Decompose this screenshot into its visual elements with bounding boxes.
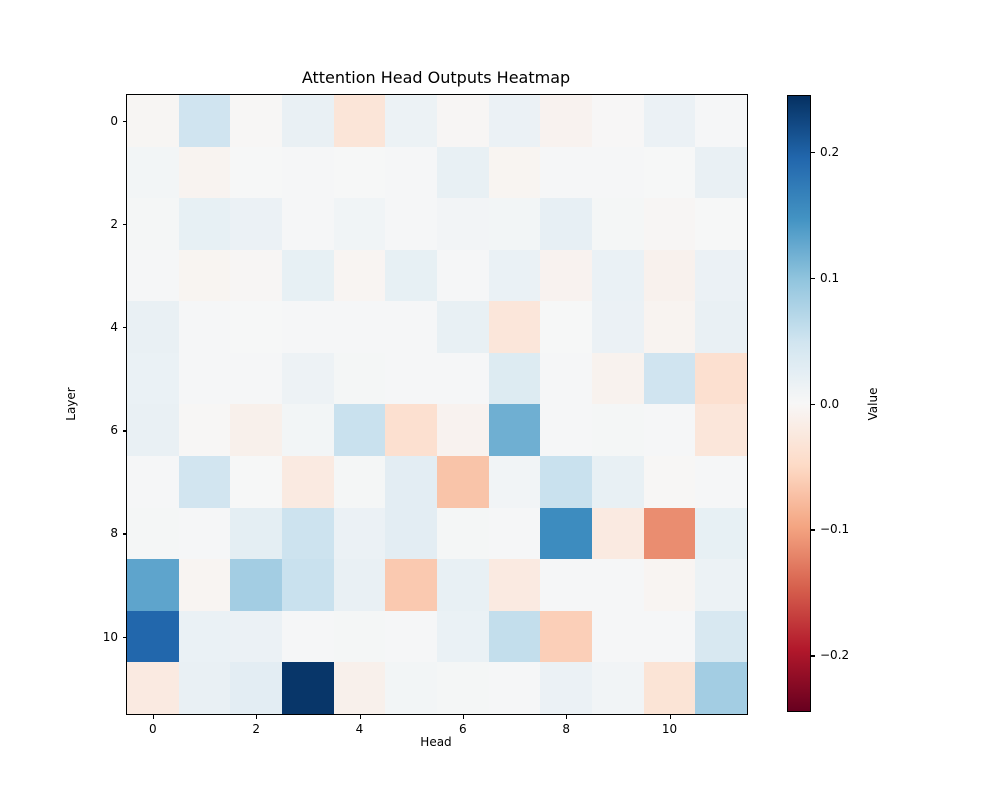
heatmap-cell	[437, 250, 489, 302]
heatmap-cell	[592, 301, 644, 353]
heatmap-cell	[644, 508, 696, 560]
colorbar-gradient	[787, 95, 811, 712]
heatmap-cell	[437, 404, 489, 456]
heatmap-cell	[644, 250, 696, 302]
heatmap-cell	[127, 301, 179, 353]
y-axis-title-text: Layer	[64, 387, 78, 420]
y-tick-label: 2	[110, 217, 118, 231]
page-title: Attention Head Outputs Heatmap	[126, 68, 746, 88]
heatmap-cell	[179, 559, 231, 611]
y-tick-label: 8	[110, 526, 118, 540]
heatmap-cell	[334, 456, 386, 508]
heatmap-cell	[644, 662, 696, 714]
heatmap-cell	[385, 404, 437, 456]
heatmap-cell	[334, 662, 386, 714]
heatmap-cell	[127, 508, 179, 560]
heatmap-cell	[385, 147, 437, 199]
heatmap-cell	[540, 301, 592, 353]
y-tick-mark	[123, 533, 127, 534]
heatmap-cell	[334, 353, 386, 405]
heatmap-cell	[127, 250, 179, 302]
heatmap-cell	[334, 508, 386, 560]
heatmap-cell	[540, 404, 592, 456]
heatmap-cell	[385, 301, 437, 353]
heatmap-cell	[540, 353, 592, 405]
colorbar-tick-mark	[811, 655, 815, 656]
heatmap-cell	[540, 559, 592, 611]
heatmap-cell	[127, 147, 179, 199]
heatmap-cell	[592, 611, 644, 663]
heatmap-cell	[282, 611, 334, 663]
heatmap-cell	[644, 456, 696, 508]
heatmap-cell	[282, 508, 334, 560]
heatmap-cell	[592, 559, 644, 611]
heatmap-cell	[644, 559, 696, 611]
heatmap-cell	[592, 95, 644, 147]
colorbar-tick-mark	[811, 529, 815, 530]
heatmap-cell	[644, 198, 696, 250]
x-tick-mark	[360, 715, 361, 719]
y-tick-mark	[123, 327, 127, 328]
heatmap-cell	[695, 198, 747, 250]
colorbar-title-text: Value	[866, 387, 880, 420]
heatmap-cell	[230, 611, 282, 663]
heatmap-cell	[282, 353, 334, 405]
y-tick-mark	[123, 121, 127, 122]
heatmap-cell	[385, 95, 437, 147]
heatmap-cell	[230, 147, 282, 199]
heatmap-cell	[437, 611, 489, 663]
heatmap-cell	[592, 250, 644, 302]
x-tick-mark	[566, 715, 567, 719]
heatmap-cell	[489, 250, 541, 302]
x-tick-mark	[670, 715, 671, 719]
heatmap-cell	[644, 353, 696, 405]
heatmap-cell	[540, 662, 592, 714]
heatmap-cell	[385, 508, 437, 560]
heatmap-cell	[695, 147, 747, 199]
heatmap-cell	[179, 95, 231, 147]
heatmap-cell	[334, 404, 386, 456]
heatmap-cell	[282, 95, 334, 147]
heatmap-cell	[179, 662, 231, 714]
heatmap-cell	[127, 353, 179, 405]
y-tick-label: 0	[110, 114, 118, 128]
heatmap-cell	[592, 404, 644, 456]
x-tick-mark	[463, 715, 464, 719]
heatmap-cell	[179, 301, 231, 353]
y-tick-label: 6	[110, 423, 118, 437]
y-tick-mark	[123, 224, 127, 225]
heatmap-cell	[644, 404, 696, 456]
heatmap-cell	[644, 301, 696, 353]
heatmap-cell	[385, 611, 437, 663]
heatmap-cell	[644, 147, 696, 199]
heatmap-cell	[489, 662, 541, 714]
colorbar-tick-label: −0.1	[820, 522, 849, 536]
heatmap-cell	[282, 301, 334, 353]
heatmap-cell	[489, 508, 541, 560]
heatmap-cell	[540, 611, 592, 663]
heatmap-cell	[695, 456, 747, 508]
heatmap-cell	[230, 250, 282, 302]
colorbar-tick-mark	[811, 152, 815, 153]
heatmap-cell	[489, 404, 541, 456]
colorbar-tick-mark	[811, 278, 815, 279]
heatmap-cell	[695, 95, 747, 147]
heatmap-cell	[540, 508, 592, 560]
heatmap-cell	[282, 250, 334, 302]
heatmap-cell	[230, 456, 282, 508]
heatmap-cell	[334, 95, 386, 147]
colorbar-tick-label: 0.2	[820, 145, 839, 159]
heatmap-cell	[437, 147, 489, 199]
x-tick-mark	[153, 715, 154, 719]
heatmap-cell	[540, 147, 592, 199]
heatmap-cell	[540, 198, 592, 250]
heatmap-cell	[179, 353, 231, 405]
x-axis-title: Head	[126, 735, 746, 749]
heatmap-cell	[695, 559, 747, 611]
heatmap-cell	[127, 662, 179, 714]
heatmap-cell	[334, 250, 386, 302]
x-tick-label: 2	[252, 722, 260, 736]
heatmap-cell	[282, 147, 334, 199]
heatmap-cell	[437, 301, 489, 353]
heatmap-cell	[695, 353, 747, 405]
heatmap-cell	[695, 301, 747, 353]
heatmap-cell	[592, 456, 644, 508]
colorbar-title: Value	[866, 95, 880, 712]
heatmap-cell	[179, 611, 231, 663]
heatmap-cell	[179, 147, 231, 199]
heatmap-cell	[489, 353, 541, 405]
heatmap-cell	[489, 198, 541, 250]
heatmap-cell	[695, 508, 747, 560]
heatmap-cell	[127, 559, 179, 611]
heatmap-plot-area: 0246810 0246810	[126, 94, 748, 715]
heatmap-cell	[540, 250, 592, 302]
y-axis-title: Layer	[64, 94, 78, 713]
heatmap-cell	[385, 456, 437, 508]
heatmap-cell	[282, 559, 334, 611]
heatmap-cell	[334, 198, 386, 250]
colorbar-tick-mark	[811, 404, 815, 405]
heatmap-cell	[489, 147, 541, 199]
heatmap-cell	[230, 301, 282, 353]
colorbar: 0.20.10.0−0.1−0.2	[787, 95, 811, 712]
y-tick-label: 10	[103, 630, 118, 644]
heatmap-cell	[334, 611, 386, 663]
heatmap-cell	[437, 198, 489, 250]
heatmap-cell	[695, 662, 747, 714]
heatmap-cell	[127, 198, 179, 250]
heatmap-cell	[489, 559, 541, 611]
x-tick-mark	[256, 715, 257, 719]
heatmap-cell	[592, 508, 644, 560]
heatmap-cell	[230, 508, 282, 560]
heatmap-cell	[230, 404, 282, 456]
heatmap-cell	[282, 662, 334, 714]
heatmap-cell	[230, 198, 282, 250]
heatmap-cell	[437, 508, 489, 560]
heatmap-cell	[282, 404, 334, 456]
heatmap-cell	[644, 95, 696, 147]
colorbar-tick-label: 0.1	[820, 271, 839, 285]
heatmap-figure: Attention Head Outputs Heatmap 0246810 0…	[0, 0, 1000, 800]
heatmap-cell	[437, 662, 489, 714]
heatmap-cell	[385, 662, 437, 714]
heatmap-cell	[334, 559, 386, 611]
heatmap-cell	[489, 95, 541, 147]
heatmap-cell	[437, 95, 489, 147]
heatmap-cell	[592, 662, 644, 714]
heatmap-cell	[385, 559, 437, 611]
heatmap-cell	[592, 198, 644, 250]
heatmap-cell	[230, 662, 282, 714]
heatmap-cell	[179, 250, 231, 302]
heatmap-cell	[127, 611, 179, 663]
heatmap-cell	[385, 353, 437, 405]
heatmap-cell	[644, 611, 696, 663]
x-tick-label: 8	[562, 722, 570, 736]
heatmap-cell	[695, 250, 747, 302]
heatmap-cell	[282, 198, 334, 250]
heatmap-cell	[489, 456, 541, 508]
heatmap-cell	[385, 198, 437, 250]
y-tick-mark	[123, 430, 127, 431]
heatmap-cell	[230, 353, 282, 405]
heatmap-cell	[695, 611, 747, 663]
y-tick-label: 4	[110, 320, 118, 334]
x-tick-label: 10	[662, 722, 677, 736]
colorbar-tick-label: 0.0	[820, 397, 839, 411]
heatmap-cell	[695, 404, 747, 456]
heatmap-cell	[592, 353, 644, 405]
x-tick-label: 0	[149, 722, 157, 736]
x-tick-label: 6	[459, 722, 467, 736]
heatmap-cell	[437, 353, 489, 405]
heatmap-grid	[127, 95, 747, 714]
heatmap-cell	[127, 456, 179, 508]
heatmap-cell	[179, 198, 231, 250]
heatmap-cell	[282, 456, 334, 508]
heatmap-cell	[540, 95, 592, 147]
heatmap-cell	[592, 147, 644, 199]
heatmap-cell	[334, 147, 386, 199]
heatmap-cell	[489, 611, 541, 663]
colorbar-tick-label: −0.2	[820, 648, 849, 662]
heatmap-cell	[437, 456, 489, 508]
heatmap-cell	[179, 456, 231, 508]
heatmap-cell	[179, 508, 231, 560]
heatmap-cell	[230, 559, 282, 611]
heatmap-cell	[489, 301, 541, 353]
heatmap-cell	[179, 404, 231, 456]
heatmap-cell	[437, 559, 489, 611]
heatmap-cell	[127, 404, 179, 456]
y-tick-mark	[123, 637, 127, 638]
heatmap-cell	[127, 95, 179, 147]
heatmap-cell	[385, 250, 437, 302]
heatmap-cell	[334, 301, 386, 353]
heatmap-cell	[540, 456, 592, 508]
x-tick-label: 4	[356, 722, 364, 736]
heatmap-cell	[230, 95, 282, 147]
